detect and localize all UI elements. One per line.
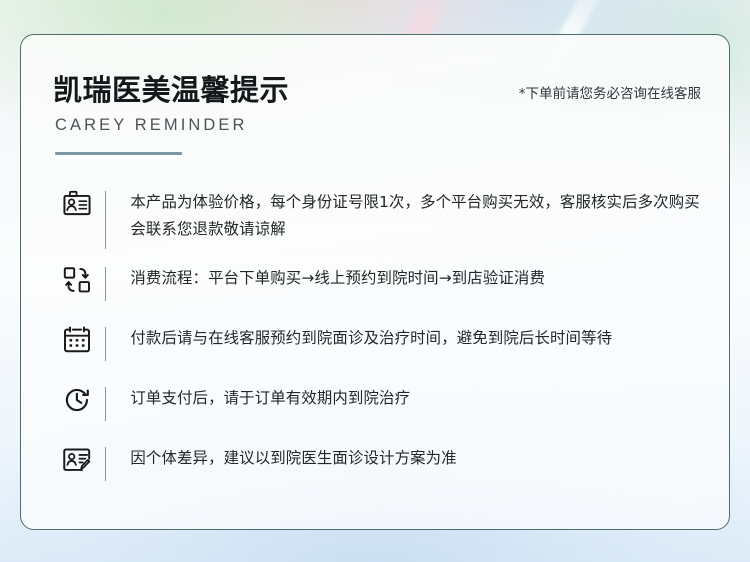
clock-history-icon [49,384,105,415]
list-item-text: 消费流程：平台下单购买→线上预约到院时间→到店验证消费 [130,264,711,292]
list-item: 付款后请与在线客服预约到院面诊及治疗时间，避免到院后长时间等待 [49,323,711,383]
page-subtitle: CAREY REMINDER [55,115,701,135]
list-item: 本产品为体验价格，每个身份证号限1次，多个平台购买无效，客服核实后多次购买会联系… [49,187,711,263]
card-header: 凯瑞医美温馨提示 CAREY REMINDER *下单前请您务必咨询在线客服 [53,73,701,155]
row-divider [105,447,106,481]
list-item: 因个体差异，建议以到院医生面诊设计方案为准 [49,443,711,503]
row-divider [105,267,106,301]
notice-card: 凯瑞医美温馨提示 CAREY REMINDER *下单前请您务必咨询在线客服 [20,34,730,530]
list-item: 消费流程：平台下单购买→线上预约到院时间→到店验证消费 [49,263,711,323]
list-item-text: 订单支付后，请于订单有效期内到院治疗 [130,384,711,412]
title-accent-bar [55,152,182,155]
promo-notice-page: 凯瑞医美温馨提示 CAREY REMINDER *下单前请您务必咨询在线客服 [0,0,750,562]
row-divider [105,191,106,249]
list-item-text: 因个体差异，建议以到院医生面诊设计方案为准 [130,444,711,472]
profile-form-icon [49,444,105,475]
list-item-text: 付款后请与在线客服预约到院面诊及治疗时间，避免到院后长时间等待 [130,324,711,352]
list-item-text: 本产品为体验价格，每个身份证号限1次，多个平台购买无效，客服核实后多次购买会联系… [130,188,711,243]
calendar-icon [49,324,105,355]
row-divider [105,387,106,421]
process-flow-icon [49,264,105,295]
row-divider [105,327,106,361]
header-note: *下单前请您务必咨询在线客服 [519,85,701,103]
id-card-icon [49,188,105,219]
notice-list: 本产品为体验价格，每个身份证号限1次，多个平台购买无效，客服核实后多次购买会联系… [49,187,711,503]
list-item: 订单支付后，请于订单有效期内到院治疗 [49,383,711,443]
